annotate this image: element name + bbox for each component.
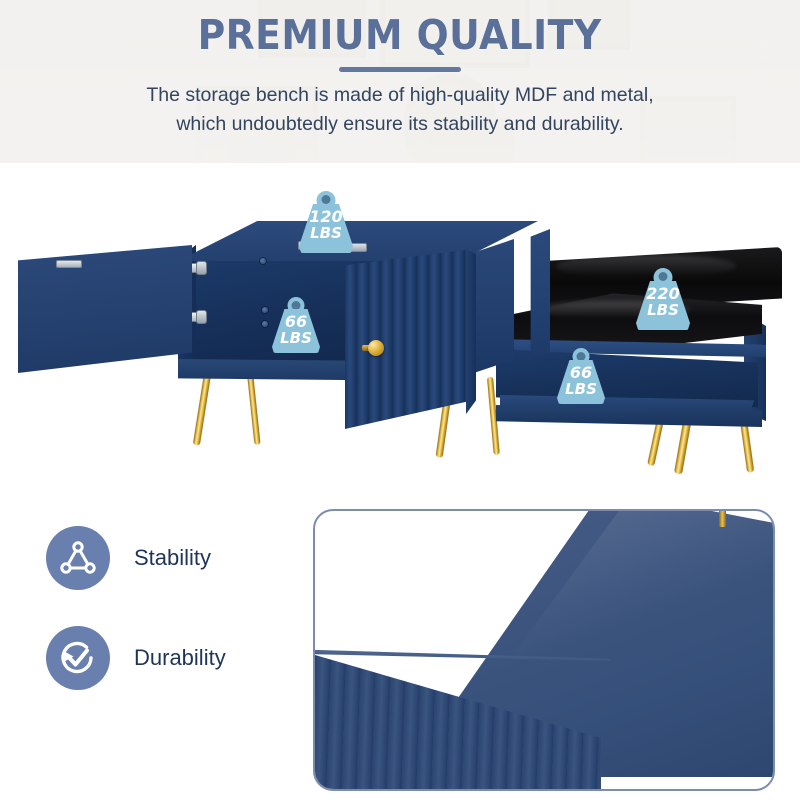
weight-icon-hole	[292, 301, 301, 310]
subtitle-line-1: The storage bench is made of high-qualit…	[146, 84, 653, 106]
feature-label: Durability	[134, 645, 226, 671]
refresh-check-icon	[58, 639, 98, 677]
feature-label: Stability	[134, 545, 211, 571]
weight-value: 120	[299, 208, 353, 225]
feature-icon-circle	[46, 626, 110, 690]
weight-badge-text: 66 LBS	[272, 313, 320, 346]
weight-value: 66	[272, 313, 320, 330]
weight-badge-text: 220 LBS	[636, 285, 690, 318]
fluted-door-edge	[466, 249, 476, 421]
subtitle-line-2: which undoubtedly ensure its stability a…	[146, 110, 653, 139]
gold-leg-tip	[719, 509, 726, 527]
weight-icon-hole	[322, 195, 331, 204]
feature-item-durability: Durability	[46, 626, 296, 690]
shelf-pin-hole	[262, 321, 268, 327]
weight-capacity-badge: 220 LBS	[636, 268, 690, 330]
shelf-pin-hole	[262, 307, 268, 313]
weight-unit: LBS	[557, 381, 605, 397]
triangle-nodes-icon	[59, 540, 97, 576]
feature-item-stability: Stability	[46, 526, 296, 590]
detail-closeup-panel	[313, 509, 775, 791]
weight-unit: LBS	[299, 225, 353, 241]
weight-badge-text: 66 LBS	[557, 364, 605, 397]
hinge-cup	[196, 310, 207, 324]
weight-capacity-badge: 66 LBS	[272, 297, 320, 353]
weight-unit: LBS	[272, 330, 320, 346]
weight-capacity-badge: 120 LBS	[299, 191, 353, 253]
open-cabinet-door-left	[18, 245, 192, 373]
gold-leg	[193, 367, 212, 445]
header-banner: PREMIUM QUALITY The storage bench is mad…	[0, 0, 800, 163]
weight-capacity-badge: 66 LBS	[557, 348, 605, 404]
fluted-cabinet-door	[345, 249, 473, 429]
weight-unit: LBS	[636, 302, 690, 318]
shelf-pin-hole	[260, 258, 266, 264]
weight-icon-hole	[577, 352, 586, 361]
weight-value: 220	[636, 285, 690, 302]
weight-badge-text: 120 LBS	[299, 208, 353, 241]
gold-leg	[247, 373, 260, 445]
weight-value: 66	[557, 364, 605, 381]
hinge-cup	[196, 261, 207, 275]
page-title: PREMIUM QUALITY	[198, 14, 602, 57]
product-illustration	[0, 163, 800, 513]
weight-icon-hole	[659, 272, 668, 281]
feature-icon-circle	[46, 526, 110, 590]
feature-list: Stability Durability	[46, 526, 296, 726]
header-subtitle: The storage bench is made of high-qualit…	[146, 81, 653, 140]
door-catch-plate	[56, 260, 82, 268]
title-divider	[339, 67, 461, 72]
gold-door-knob	[368, 340, 384, 356]
